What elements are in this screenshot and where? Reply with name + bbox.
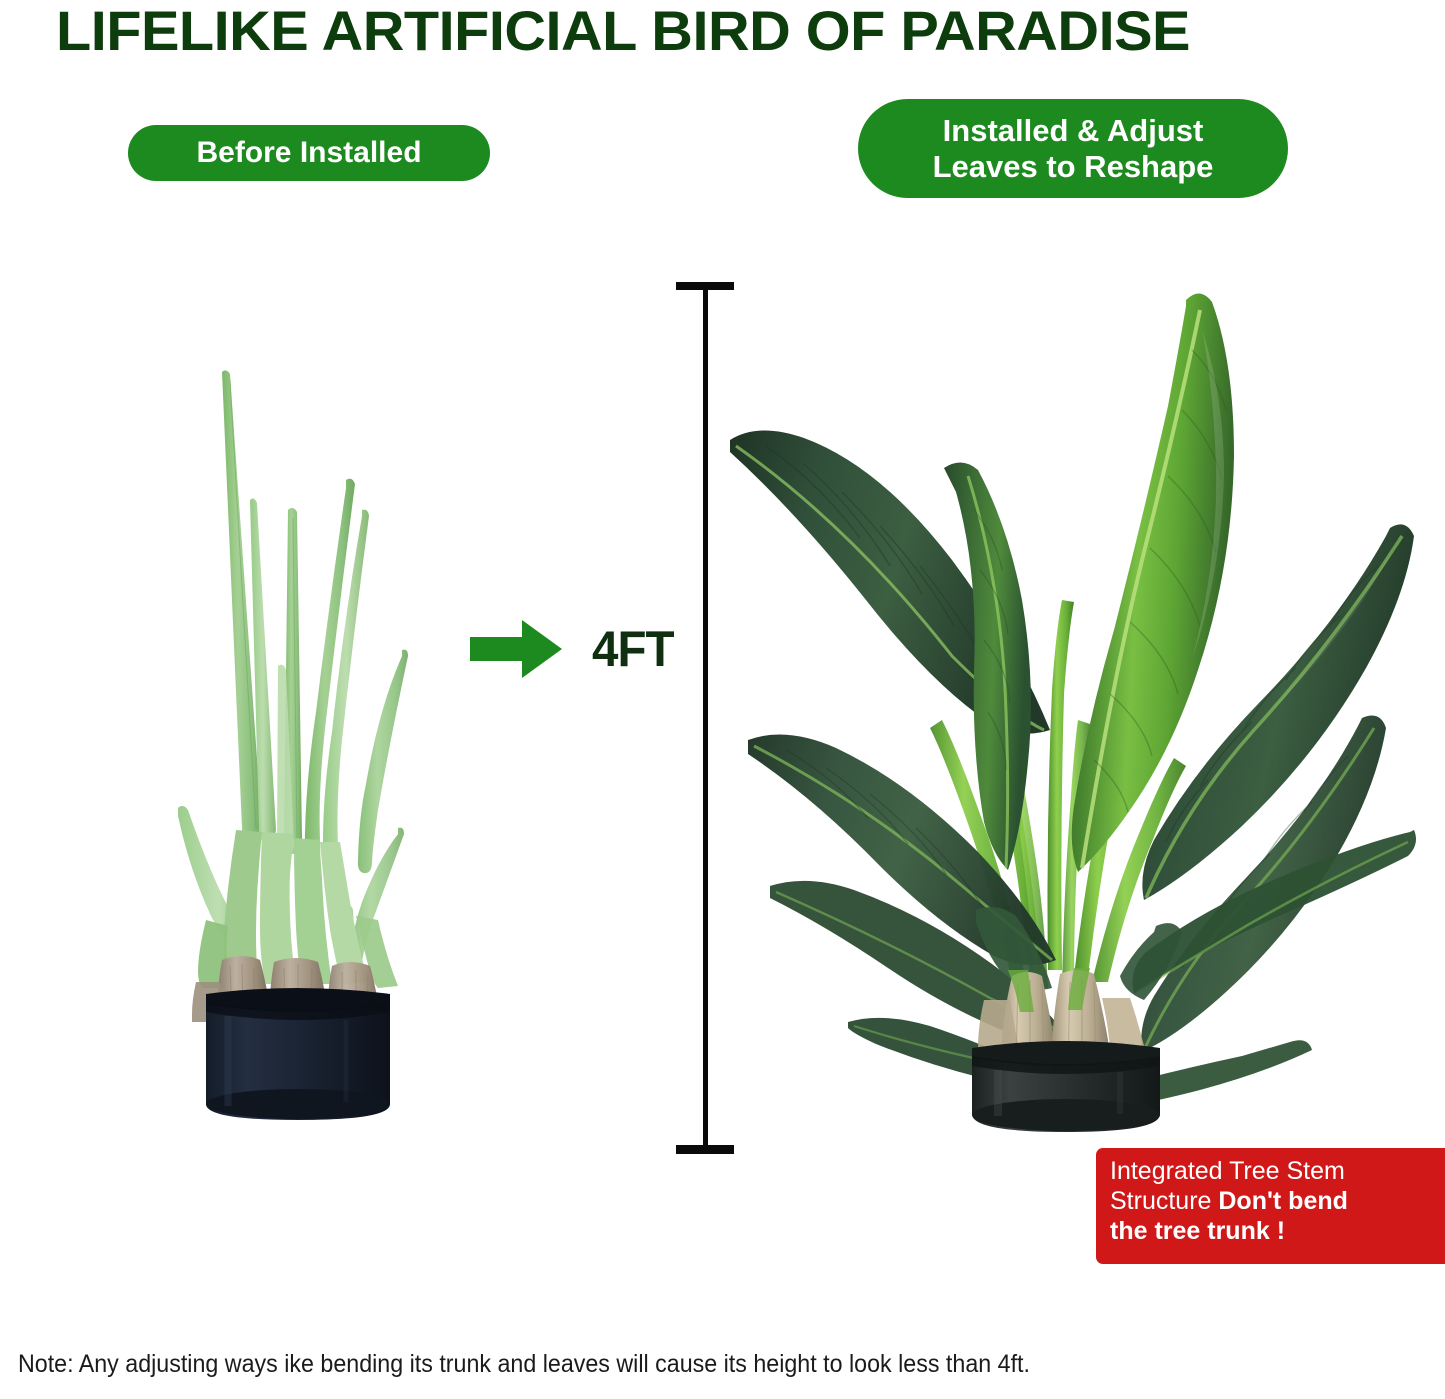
badge-before-installed-label: Before Installed bbox=[196, 136, 421, 170]
height-label: 4FT bbox=[592, 620, 674, 678]
plant-after-image bbox=[730, 270, 1420, 1140]
warning-line1-text: Integrated Tree Stem bbox=[1110, 1157, 1345, 1185]
infographic-canvas: LIFELIKE ARTIFICIAL BIRD OF PARADISE Bef… bbox=[0, 0, 1445, 1399]
warning-line2-light-text: Structure bbox=[1110, 1187, 1218, 1215]
badge-installed-line2: Leaves to Reshape bbox=[933, 149, 1214, 185]
measurement-bottom-cap bbox=[676, 1145, 734, 1154]
warning-line2-heavy-text: Don't bend bbox=[1218, 1187, 1348, 1215]
badge-installed-adjust: Installed & Adjust Leaves to Reshape bbox=[858, 99, 1288, 198]
right-arrow-icon bbox=[470, 620, 562, 678]
warning-line-3: the tree trunk ! bbox=[1110, 1216, 1435, 1246]
badge-installed-line1: Installed & Adjust bbox=[943, 113, 1204, 149]
badge-before-installed: Before Installed bbox=[128, 125, 490, 181]
warning-line-1: Integrated Tree Stem bbox=[1110, 1156, 1435, 1186]
footer-note: Note: Any adjusting ways ike bending its… bbox=[18, 1350, 1339, 1379]
height-measurement-bar bbox=[676, 282, 734, 1154]
warning-line-2: Structure Don't bend bbox=[1110, 1186, 1435, 1216]
warning-box: Integrated Tree Stem Structure Don't ben… bbox=[1096, 1148, 1445, 1264]
plant-before-image bbox=[150, 360, 450, 1120]
page-title: LIFELIKE ARTIFICIAL BIRD OF PARADISE bbox=[56, 2, 1426, 60]
warning-line3-text: the tree trunk ! bbox=[1110, 1217, 1285, 1245]
measurement-line bbox=[703, 288, 708, 1150]
